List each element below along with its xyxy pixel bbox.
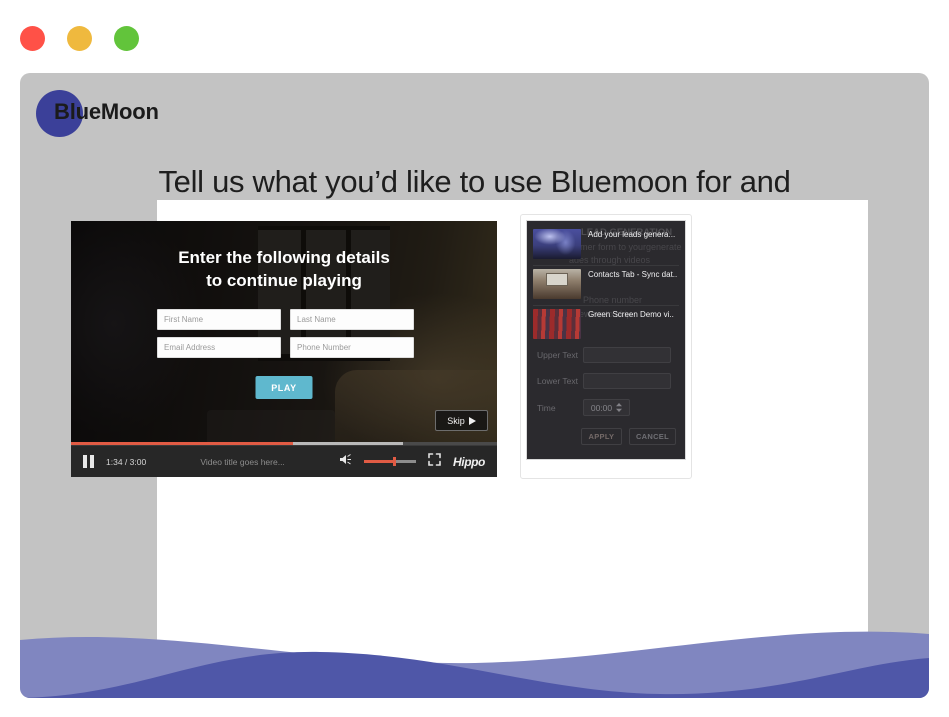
play-triangle-icon	[469, 417, 476, 425]
upper-text-label: Upper Text	[537, 350, 583, 360]
window-controls	[20, 26, 139, 51]
lower-text-row: Lower Text	[537, 373, 671, 389]
zoom-button[interactable]	[114, 26, 139, 51]
fullscreen-icon[interactable]	[428, 453, 441, 471]
play-submit-button[interactable]: PLAY	[256, 376, 313, 399]
list-item-title: Contacts Tab - Sync dat..	[588, 269, 677, 280]
time-display: 1:34 / 3:00	[106, 457, 146, 467]
phone-input[interactable]	[290, 337, 414, 358]
brand-logo[interactable]: BlueMoon	[36, 90, 266, 144]
email-input[interactable]	[157, 337, 281, 358]
concert-thumbnail-icon	[533, 229, 581, 259]
volume-icon[interactable]	[339, 453, 352, 471]
list-item[interactable]: Contacts Tab - Sync dat..	[533, 269, 677, 299]
time-value: 00:00	[591, 403, 612, 413]
list-divider	[533, 265, 679, 266]
gate-title-line-1: Enter the following details	[71, 247, 497, 270]
gate-title-line-2: to continue playing	[71, 270, 497, 293]
list-item[interactable]: Green Screen Demo vi..	[533, 309, 674, 339]
video-title: Video title goes here...	[158, 457, 327, 467]
video-player[interactable]: Enter the following details to continue …	[71, 221, 497, 477]
list-item[interactable]: Add your leads genera...	[533, 229, 675, 259]
page-title: Tell us what you’d like to use Bluemoon …	[20, 163, 929, 202]
control-bar: 1:34 / 3:00 Video title goes here...	[71, 445, 497, 477]
skip-button[interactable]: Skip	[435, 410, 488, 431]
upper-text-input[interactable]	[583, 347, 671, 363]
stepper-up-down-icon	[616, 403, 622, 412]
lead-gate-overlay: Enter the following details to continue …	[71, 221, 497, 477]
volume-slider[interactable]	[364, 460, 416, 463]
skip-label: Skip	[447, 416, 465, 426]
crowd-thumbnail-icon	[533, 309, 581, 339]
volume-knob[interactable]	[393, 457, 396, 466]
time-label: Time	[537, 403, 583, 413]
side-panel: LEAD GENERATION omer form to yourgenerat…	[527, 221, 685, 459]
close-button[interactable]	[20, 26, 45, 51]
brand-name: BlueMoon	[54, 99, 159, 125]
gate-title: Enter the following details to continue …	[71, 247, 497, 293]
upper-text-row: Upper Text	[537, 347, 671, 363]
panel-actions: APPLY CANCEL	[581, 428, 676, 445]
apply-button[interactable]: APPLY	[581, 428, 622, 445]
footer-waves	[20, 608, 929, 698]
time-row: Time 00:00	[537, 399, 630, 416]
last-name-input[interactable]	[290, 309, 414, 330]
gate-form	[157, 309, 447, 358]
time-stepper[interactable]: 00:00	[583, 399, 630, 416]
cancel-button[interactable]: CANCEL	[629, 428, 676, 445]
list-divider	[533, 305, 679, 306]
volume-fill	[364, 460, 394, 463]
hippo-logo: Hippo	[453, 455, 485, 469]
page-body: BlueMoon Tell us what you’d like to use …	[20, 73, 929, 698]
minimize-button[interactable]	[67, 26, 92, 51]
first-name-input[interactable]	[157, 309, 281, 330]
list-item-title: Green Screen Demo vi..	[588, 309, 674, 320]
progress-played	[71, 442, 293, 445]
pause-icon[interactable]	[83, 455, 94, 468]
player-controls: 1:34 / 3:00 Video title goes here...	[71, 442, 497, 477]
lower-text-input[interactable]	[583, 373, 671, 389]
wave-graphic	[20, 608, 929, 698]
room-thumbnail-icon	[533, 269, 581, 299]
progress-bar[interactable]	[71, 442, 497, 445]
lower-text-label: Lower Text	[537, 376, 583, 386]
screenshot-root: BlueMoon Tell us what you’d like to use …	[0, 0, 949, 717]
list-item-title: Add your leads genera...	[588, 229, 675, 240]
